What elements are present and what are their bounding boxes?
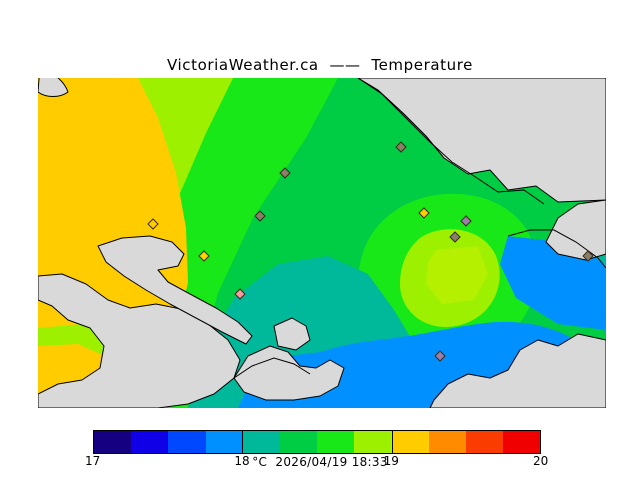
units-timestamp: °C 2026/04/19 18:33 xyxy=(0,455,640,469)
colorbar-tick-19 xyxy=(392,430,393,454)
temperature-map[interactable] xyxy=(38,78,606,408)
colorbar-tick-18 xyxy=(242,430,243,454)
colorbar-legend: 17181920 xyxy=(0,424,640,480)
map-canvas xyxy=(38,78,606,408)
page-title: VictoriaWeather.ca —— Temperature xyxy=(0,56,640,74)
colorbar-ticks xyxy=(93,430,541,454)
weather-map-page: VictoriaWeather.ca —— Temperature xyxy=(0,0,640,480)
